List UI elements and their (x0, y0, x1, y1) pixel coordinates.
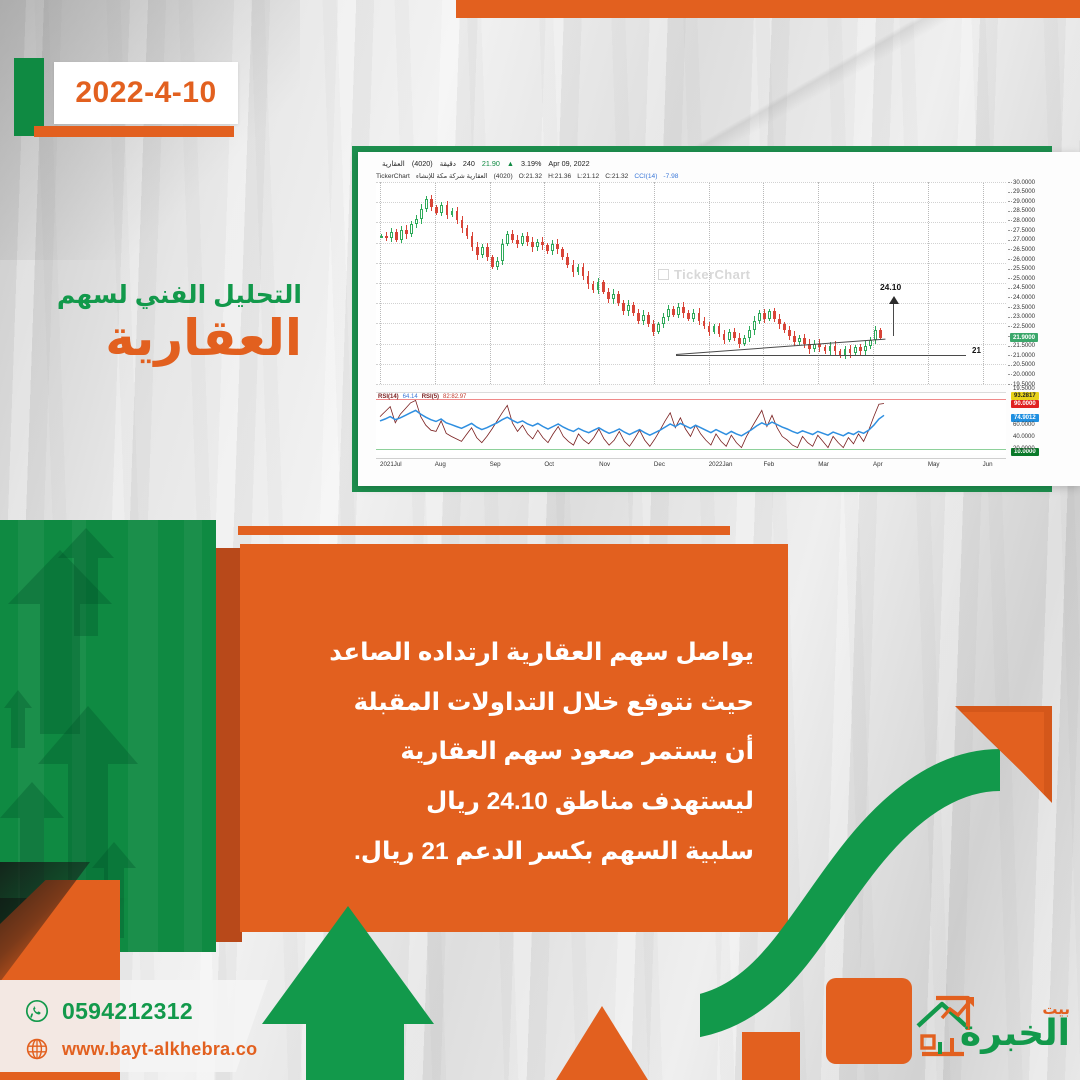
chart-card: العقارية (4020) دقيقة 240 21.90 ▲ 3.19% … (358, 152, 1080, 486)
current-price-tag: 21.9000 (1010, 333, 1038, 342)
chart-inner: العقارية (4020) دقيقة 240 21.90 ▲ 3.19% … (358, 152, 1080, 486)
date-underline-bar (34, 126, 234, 137)
rsi-line (380, 410, 884, 435)
price-tick-dash (1008, 249, 1012, 250)
price-tick-dash (1008, 220, 1012, 221)
price-tick-dash (1008, 269, 1012, 270)
chart-change-pct: 3.19% (521, 159, 541, 168)
contact-row-website[interactable]: www.bayt-alkhebra.co (24, 1030, 284, 1068)
gridline-horizontal (376, 384, 1006, 385)
chart-low: L:21.12 (577, 173, 599, 180)
decor-green-trend-arrow (700, 620, 1080, 1040)
brand-logo[interactable]: بيت الخبرة (908, 986, 1072, 1074)
price-tick-label: 23.0000 (1013, 313, 1035, 320)
analysis-line-5: سلبية السهم بكسر الدعم 21 ريال. (268, 827, 754, 877)
chart-company-code: (4020) (494, 173, 513, 180)
time-axis: 2021JulAugSepOctNovDec2022JanFebMarAprMa… (376, 458, 1006, 473)
price-tick-label: 29.5000 (1013, 188, 1035, 195)
globe-icon (24, 1036, 50, 1062)
rsi-level-tag: 74.9012 (1011, 414, 1039, 422)
analysis-body-text: يواصل سهم العقارية ارتداده الصاعدحيث نتو… (268, 628, 754, 877)
support-label: 21 (972, 346, 981, 355)
text-card-backplate (216, 548, 242, 942)
time-tick-label: Aug (435, 461, 446, 468)
price-tick-dash (1008, 192, 1012, 193)
price-tick-dash (1008, 355, 1012, 356)
price-axis: 30.000029.500029.000028.500028.000027.50… (1008, 182, 1080, 384)
rsi-legend-value-2: 82:82.97 (443, 394, 466, 400)
analysis-line-3: أن يستمر صعود سهم العقارية (268, 727, 754, 777)
chart-open: O:21.32 (519, 173, 542, 180)
price-plot: TickerChart 21 24.10 (376, 182, 1006, 384)
price-tick-dash (1008, 346, 1012, 347)
whatsapp-icon (24, 998, 50, 1024)
price-tick-dash (1008, 288, 1012, 289)
contact-row-phone[interactable]: 0594212312 (24, 992, 284, 1030)
rsi-lines (376, 393, 1006, 455)
chart-indicator-value: -7.98 (663, 173, 678, 180)
decor-green-stem (306, 1022, 404, 1080)
decor-orange-triangle (556, 1006, 648, 1080)
time-tick-label: 2021Jul (380, 461, 402, 468)
target-arrow-stem (893, 304, 894, 336)
price-tick-label: 24.5000 (1013, 284, 1035, 291)
chart-header-primary: العقارية (4020) دقيقة 240 21.90 ▲ 3.19% … (382, 157, 1076, 169)
time-tick-label: Nov (599, 461, 610, 468)
time-tick-label: Apr (873, 461, 883, 468)
time-tick-label: May (928, 461, 940, 468)
rsi-tick-label: 19.5000 (1013, 386, 1035, 392)
price-tick-dash (1008, 384, 1012, 385)
rsi-legend-value-1: 64.14 (403, 394, 418, 400)
time-tick-label: 2022Jan (709, 461, 733, 468)
title-line-2: العقارية (0, 312, 302, 365)
time-tick-label: Feb (763, 461, 774, 468)
logo-main-word: الخبرة (960, 1015, 1070, 1051)
target-label: 24.10 (880, 282, 901, 292)
rsi-level-tag: 90.0000 (1011, 400, 1039, 408)
time-tick-label: Dec (654, 461, 665, 468)
section-divider-bar (238, 526, 730, 535)
price-tick-label: 26.5000 (1013, 246, 1035, 253)
price-tick-label: 20.0000 (1013, 371, 1035, 378)
chart-indicator-name: CCI(14) (634, 173, 657, 180)
rsi-legend: RSI(14) 64.14 RSI(5) 82:82.97 (378, 394, 466, 400)
rsi-legend-key-2: RSI(5) (422, 394, 439, 400)
price-tick-dash (1008, 278, 1012, 279)
target-arrow-head-icon (889, 296, 899, 304)
decor-green-triangle (262, 906, 434, 1024)
chart-change-arrow-icon: ▲ (507, 159, 514, 168)
date-badge: 2022-4-10 (54, 62, 238, 124)
logo-wordmark: بيت الخبرة (960, 1002, 1070, 1051)
time-tick-label: Jun (983, 461, 993, 468)
price-tick-label: 26.0000 (1013, 256, 1035, 263)
contact-block: 0594212312 www.bayt-alkhebra.co (24, 992, 284, 1068)
chart-close: C:21.32 (605, 173, 628, 180)
poster-canvas: 2022-4-10 التحليل الفني لسهم العقارية ال… (0, 0, 1080, 1080)
chart-header-secondary: TickerChart العقارية شركة مكة للإنشاء (4… (376, 170, 1076, 182)
price-tick-dash (1008, 297, 1012, 298)
chart-brand: TickerChart (376, 173, 410, 180)
date-text: 2022-4-10 (75, 76, 216, 110)
rsi-tick-label: 60.0000 (1013, 422, 1035, 428)
price-tick-label: 29.0000 (1013, 198, 1035, 205)
price-tick-label: 22.5000 (1013, 323, 1035, 330)
analysis-line-1: يواصل سهم العقارية ارتداده الصاعد (268, 628, 754, 678)
price-tick-label: 27.5000 (1013, 227, 1035, 234)
phone-number: 0594212312 (62, 998, 193, 1025)
price-tick-dash (1008, 317, 1012, 318)
page-title: التحليل الفني لسهم العقارية (0, 282, 302, 364)
website-url: www.bayt-alkhebra.co (62, 1039, 257, 1060)
rsi-tick-label: 20.0000 (1013, 446, 1035, 452)
price-tick-dash (1008, 230, 1012, 231)
chart-high: H:21.36 (548, 173, 571, 180)
price-tick-dash (1008, 374, 1012, 375)
price-tick-dash (1008, 201, 1012, 202)
time-tick-label: Oct (544, 461, 554, 468)
top-accent-bar (456, 0, 1080, 18)
price-tick-dash (1008, 259, 1012, 260)
price-tick-label: 28.0000 (1013, 217, 1035, 224)
price-tick-dash (1008, 240, 1012, 241)
chart-symbol-code: (4020) (412, 159, 433, 168)
price-tick-dash (1008, 365, 1012, 366)
date-green-tab (14, 58, 44, 136)
price-tick-dash (1008, 326, 1012, 327)
price-tick-label: 25.0000 (1013, 275, 1035, 282)
price-tick-label: 21.0000 (1013, 352, 1035, 359)
rsi-line (380, 400, 884, 447)
rsi-level-tag: 93.2817 (1011, 392, 1039, 400)
chart-symbol-name: العقارية (382, 159, 405, 168)
chart-company-name: العقارية شركة مكة للإنشاء (416, 172, 488, 180)
price-tick-label: 23.5000 (1013, 304, 1035, 311)
decor-orange-square (742, 1032, 800, 1080)
decor-orange-rounded-square (826, 978, 912, 1064)
analysis-line-2: حيث نتوقع خلال التداولات المقبلة (268, 678, 754, 728)
price-tick-label: 27.0000 (1013, 236, 1035, 243)
price-tick-label: 21.5000 (1013, 342, 1035, 349)
rsi-panel: RSI(14) 64.14 RSI(5) 82:82.97 (376, 392, 1006, 455)
horizontal-support-line (676, 355, 966, 356)
price-tick-label: 24.0000 (1013, 294, 1035, 301)
time-tick-label: Mar (818, 461, 829, 468)
chart-last-price: 21.90 (482, 159, 500, 168)
price-tick-label: 25.5000 (1013, 265, 1035, 272)
rsi-tick-label: 40.0000 (1013, 434, 1035, 440)
price-tick-label: 30.0000 (1013, 179, 1035, 186)
rsi-legend-key-1: RSI(14) (378, 394, 399, 400)
analysis-line-4: ليستهدف مناطق 24.10 ريال (268, 777, 754, 827)
title-line-1: التحليل الفني لسهم (0, 282, 302, 310)
time-tick-label: Sep (490, 461, 501, 468)
chart-interval: 240 (463, 159, 475, 168)
price-tick-label: 20.5000 (1013, 361, 1035, 368)
chart-interval-label: دقيقة (440, 159, 456, 168)
price-tick-dash (1008, 307, 1012, 308)
price-tick-dash (1008, 211, 1012, 212)
rsi-axis: 93.281790.000074.901210.000019.500060.00… (1008, 388, 1080, 460)
price-tick-label: 28.5000 (1013, 207, 1035, 214)
price-tick-dash (1008, 182, 1012, 183)
chart-asof-date: Apr 09, 2022 (548, 159, 589, 168)
